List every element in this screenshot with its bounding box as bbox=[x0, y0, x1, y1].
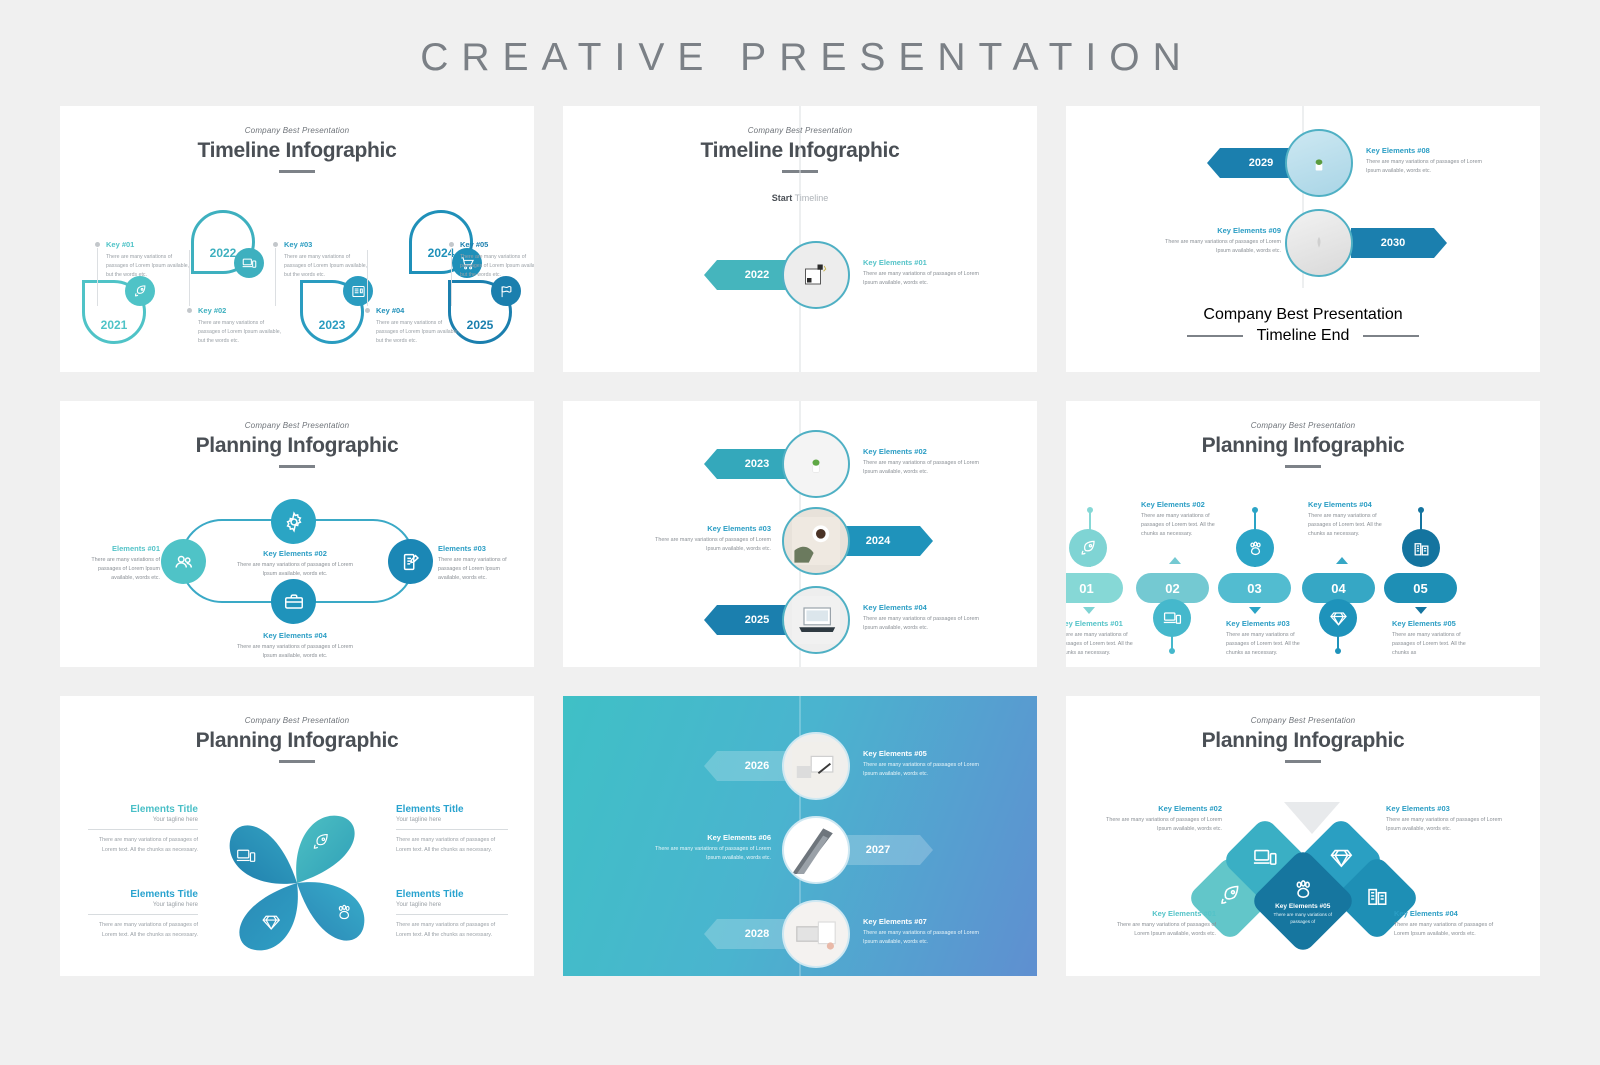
key-column-03[interactable]: Key #03 There are many variations of pas… bbox=[284, 240, 370, 280]
slide-header: Company Best Presentation Planning Infog… bbox=[60, 696, 534, 763]
key-block: Key Elements #08 There are many variatio… bbox=[1366, 146, 1496, 176]
laptop-photo-icon bbox=[792, 596, 840, 644]
key-body: There are many variations of passages of… bbox=[1226, 631, 1314, 658]
key-body: There are many variations of passages of… bbox=[1104, 921, 1216, 939]
divider bbox=[396, 829, 508, 830]
feather-photo-icon bbox=[1311, 230, 1327, 256]
key-label: Key Elements #05 bbox=[863, 749, 988, 758]
devices-icon bbox=[234, 248, 264, 278]
key-block-03: Elements #03 There are many variations o… bbox=[438, 544, 520, 583]
divider bbox=[88, 914, 198, 915]
pinwheel-graphic[interactable] bbox=[208, 794, 386, 972]
gear-icon[interactable] bbox=[271, 499, 316, 544]
key-block-01: Key Elements #01 There are many variatio… bbox=[1104, 909, 1216, 939]
key-vline bbox=[367, 250, 368, 306]
key-body: There are many variations of passages of… bbox=[1392, 631, 1484, 658]
year-label: 2021 bbox=[82, 318, 146, 332]
key-body: There are many variations of passages of… bbox=[863, 761, 988, 779]
slide-timeline-mid[interactable]: 2023 Key Elements #02 There are many var… bbox=[563, 401, 1037, 667]
key-block: Key Elements #03 There are many variatio… bbox=[1226, 619, 1314, 658]
slide-header: Company Best Presentation Planning Infog… bbox=[1066, 401, 1540, 468]
key-body: There are many variations of passages of… bbox=[1151, 238, 1281, 256]
photo-coffee bbox=[782, 507, 850, 575]
key-label: Key Elements #03 bbox=[1226, 619, 1314, 628]
key-body: There are many variations of passages of… bbox=[236, 643, 354, 661]
key-body: There are many variations of passages of… bbox=[284, 253, 370, 280]
step-nub bbox=[1335, 648, 1341, 654]
key-column-05[interactable]: Key #05 There are many variations of pas… bbox=[460, 240, 534, 280]
slide-eyebrow: Company Best Presentation bbox=[60, 421, 534, 430]
key-label: Key Elements #03 bbox=[641, 524, 771, 533]
title-rule bbox=[279, 760, 315, 763]
key-body: There are many variations of passages of bbox=[1265, 911, 1341, 926]
slide-eyebrow: Company Best Presentation bbox=[1066, 421, 1540, 430]
key-label: Key Elements #05 bbox=[1392, 619, 1484, 628]
key-block: Key Elements #01 There are many variatio… bbox=[1066, 619, 1147, 658]
rocket-icon bbox=[125, 276, 155, 306]
tile-content bbox=[1218, 883, 1243, 913]
key-label: Key #02 bbox=[198, 306, 284, 315]
key-label: Key #01 bbox=[106, 240, 192, 249]
slide-timeline-gradient[interactable]: 2026 Key Elements #05 There are many var… bbox=[563, 696, 1037, 976]
key-body: There are many variations of passages of… bbox=[198, 319, 284, 346]
key-body: There are many variations of passages of… bbox=[641, 845, 771, 863]
key-block-04: Key Elements #04 There are many variatio… bbox=[1394, 909, 1506, 939]
key-block-03: Key Elements #03 There are many variatio… bbox=[1386, 804, 1504, 834]
end-title: Timeline End bbox=[1257, 327, 1350, 345]
building-photo-icon bbox=[792, 826, 840, 874]
pen-edit-icon[interactable] bbox=[388, 539, 433, 584]
step-caret-down-icon bbox=[1083, 607, 1095, 614]
slide-eyebrow: Company Best Presentation bbox=[60, 716, 534, 725]
slide-planning-pinwheel[interactable]: Company Best Presentation Planning Infog… bbox=[60, 696, 534, 976]
cactus-photo-icon bbox=[805, 452, 827, 476]
building-icon[interactable] bbox=[1402, 529, 1440, 567]
timeline-spine bbox=[800, 106, 801, 372]
photo-desk bbox=[782, 732, 850, 800]
key-block: Key Elements #04 There are many variatio… bbox=[863, 603, 988, 633]
key-block: Key Elements #05 There are many variatio… bbox=[863, 749, 988, 779]
start-bold: Start bbox=[772, 193, 793, 203]
petal-block-left-bottom: Elements Title Your tagline here There a… bbox=[88, 889, 198, 940]
title-rule bbox=[279, 465, 315, 468]
key-label: Key Elements #01 bbox=[1066, 619, 1147, 628]
photo-feather bbox=[1285, 209, 1353, 277]
timeline-row: 2021 2022 2023 bbox=[60, 202, 534, 362]
page-title: CREATIVE PRESENTATION bbox=[0, 0, 1600, 80]
photo-building bbox=[782, 816, 850, 884]
petal-block-right-top: Elements Title Your tagline here There a… bbox=[396, 804, 508, 855]
petal-block-left-top: Elements Title Your tagline here There a… bbox=[88, 804, 198, 855]
step-caret-down-icon bbox=[1249, 607, 1261, 614]
key-dot bbox=[187, 308, 192, 313]
slide-header: Company Best Presentation Planning Infog… bbox=[60, 401, 534, 468]
slide-title: Planning Infographic bbox=[1066, 434, 1540, 458]
key-body: There are many variations of passages of… bbox=[106, 253, 192, 280]
slide-eyebrow: Company Best Presentation bbox=[60, 126, 534, 135]
slide-grid: Company Best Presentation Timeline Infog… bbox=[0, 106, 1600, 976]
desk-photo-icon bbox=[792, 742, 840, 790]
year-tag[interactable]: 2030 bbox=[1351, 228, 1447, 258]
step-caret-up-icon bbox=[1336, 557, 1348, 564]
element-tagline: Your tagline here bbox=[396, 817, 508, 823]
title-rule bbox=[279, 170, 315, 173]
key-label: Key Elements #08 bbox=[1366, 146, 1496, 155]
key-label: Key Elements #05 bbox=[1265, 903, 1341, 910]
slide-eyebrow: Company Best Presentation bbox=[1066, 716, 1540, 725]
key-body: There are many variations of passages of… bbox=[863, 459, 988, 477]
tile-content: Key Elements #05 There are many variatio… bbox=[1265, 877, 1341, 926]
key-label: Key Elements #04 bbox=[1308, 500, 1400, 509]
key-body: There are many variations of passages of… bbox=[236, 561, 354, 579]
key-block: Key Elements #05 There are many variatio… bbox=[1392, 619, 1484, 658]
year-marker-2022[interactable]: 2022 bbox=[191, 210, 255, 274]
key-body: There are many variations of passages of… bbox=[1366, 158, 1496, 176]
element-tagline: Your tagline here bbox=[396, 902, 508, 908]
element-title: Elements Title bbox=[396, 889, 508, 900]
diamond-icon[interactable] bbox=[1319, 599, 1357, 637]
rocket-icon bbox=[1218, 883, 1243, 908]
key-block-04: Key Elements #04 There are many variatio… bbox=[236, 631, 354, 661]
end-eyebrow: Company Best Presentation bbox=[1066, 306, 1540, 324]
key-vline bbox=[97, 248, 98, 306]
key-label: Key #04 bbox=[376, 306, 462, 315]
element-tagline: Your tagline here bbox=[88, 902, 198, 908]
key-body: There are many variations of passages of… bbox=[376, 319, 462, 346]
key-block: Key Elements #09 There are many variatio… bbox=[1151, 226, 1281, 256]
key-vline bbox=[451, 248, 452, 306]
key-label: Key Elements #06 bbox=[641, 833, 771, 842]
key-block: Key Elements #01 There are many variatio… bbox=[863, 258, 983, 288]
slide-planning-loop[interactable]: Company Best Presentation Planning Infog… bbox=[60, 401, 534, 667]
step-nub bbox=[1169, 648, 1175, 654]
year-marker-2021[interactable]: 2021 bbox=[82, 280, 146, 344]
key-block: Key Elements #07 There are many variatio… bbox=[863, 917, 988, 947]
key-body: There are many variations of passages of… bbox=[641, 536, 771, 554]
year-marker-2023[interactable]: 2023 bbox=[300, 280, 364, 344]
key-column-04[interactable]: Key #04 There are many variations of pas… bbox=[376, 306, 462, 346]
key-body: There are many variations of passages of… bbox=[78, 556, 160, 583]
photo-notebook bbox=[782, 900, 850, 968]
key-body: There are many variations of passages of… bbox=[1141, 512, 1233, 539]
building-icon bbox=[1365, 883, 1390, 908]
element-body: There are many variations of passages of… bbox=[88, 836, 198, 855]
element-body: There are many variations of passages of… bbox=[396, 921, 508, 940]
end-title-row: Timeline End bbox=[1066, 327, 1540, 345]
key-block: Key Elements #03 There are many variatio… bbox=[641, 524, 771, 554]
key-body: There are many variations of passages of… bbox=[460, 253, 534, 280]
key-block: Key Elements #02 There are many variatio… bbox=[1141, 500, 1233, 539]
key-label: Key Elements #01 bbox=[863, 258, 983, 267]
slide-header: Company Best Presentation Planning Infog… bbox=[1066, 696, 1540, 763]
timeline-end-header: Company Best Presentation Timeline End bbox=[1066, 306, 1540, 345]
key-label: Key Elements #02 bbox=[236, 549, 354, 558]
key-label: Key Elements #02 bbox=[1141, 500, 1233, 509]
key-label: Key Elements #04 bbox=[863, 603, 988, 612]
step-caret-up-icon bbox=[1169, 557, 1181, 564]
key-label: Key Elements #09 bbox=[1151, 226, 1281, 235]
key-body: There are many variations of passages of… bbox=[1394, 921, 1506, 939]
key-vline bbox=[189, 250, 190, 306]
key-label: Key Elements #04 bbox=[1394, 909, 1506, 918]
news-icon bbox=[343, 276, 373, 306]
divider bbox=[88, 829, 198, 830]
people-icon[interactable] bbox=[161, 539, 206, 584]
flag-icon bbox=[491, 276, 521, 306]
key-dot bbox=[449, 242, 454, 247]
key-dot bbox=[365, 308, 370, 313]
photo-laptop bbox=[782, 586, 850, 654]
key-body: There are many variations of passages of… bbox=[863, 615, 988, 633]
key-body: There are many variations of passages of… bbox=[438, 556, 520, 583]
key-body: There are many variations of passages of… bbox=[863, 270, 983, 288]
tile-content bbox=[1329, 845, 1354, 875]
key-dot bbox=[273, 242, 278, 247]
slide-title: Timeline Infographic bbox=[60, 139, 534, 163]
key-body: There are many variations of passages of… bbox=[1386, 816, 1504, 834]
key-label: Elements #01 bbox=[78, 544, 160, 553]
tile-content bbox=[1253, 845, 1278, 875]
key-block: Key Elements #04 There are many variatio… bbox=[1308, 500, 1400, 539]
divider bbox=[396, 914, 508, 915]
key-label: Key Elements #03 bbox=[1386, 804, 1504, 813]
photo-cactus bbox=[782, 430, 850, 498]
element-body: There are many variations of passages of… bbox=[396, 836, 508, 855]
key-column-01[interactable]: Key #01 There are many variations of pas… bbox=[106, 240, 192, 280]
slide-title: Planning Infographic bbox=[60, 434, 534, 458]
key-vline bbox=[275, 248, 276, 306]
coffee-photo-icon bbox=[792, 517, 840, 565]
key-block-01: Elements #01 There are many variations o… bbox=[78, 544, 160, 583]
diamond-icon bbox=[1329, 845, 1354, 870]
right-rule bbox=[1363, 335, 1419, 337]
key-label: Key Elements #02 bbox=[1104, 804, 1222, 813]
petal-block-right-bottom: Elements Title Your tagline here There a… bbox=[396, 889, 508, 940]
left-rule bbox=[1187, 335, 1243, 337]
slide-planning-diamonds[interactable]: Company Best Presentation Planning Infog… bbox=[1066, 696, 1540, 976]
key-label: Key Elements #02 bbox=[863, 447, 988, 456]
slide-header: Company Best Presentation Timeline Infog… bbox=[60, 106, 534, 173]
step-pill[interactable]: 05 bbox=[1384, 573, 1457, 603]
element-title: Elements Title bbox=[88, 804, 198, 815]
key-body: There are many variations of passages of… bbox=[863, 929, 988, 947]
devices-icon bbox=[1253, 845, 1278, 870]
tile-content bbox=[1365, 883, 1390, 913]
paw-icon[interactable] bbox=[1236, 529, 1274, 567]
slide-timeline-infographic-1[interactable]: Company Best Presentation Timeline Infog… bbox=[60, 106, 534, 372]
rocket-icon[interactable] bbox=[1069, 529, 1107, 567]
element-title: Elements Title bbox=[88, 889, 198, 900]
photo-placeholder-icon bbox=[801, 260, 831, 290]
key-label: Key Elements #01 bbox=[1104, 909, 1216, 918]
slide-title: Planning Infographic bbox=[1066, 729, 1540, 753]
title-rule bbox=[1285, 760, 1321, 763]
paw-icon bbox=[1291, 877, 1316, 902]
key-dot bbox=[95, 242, 100, 247]
devices-icon[interactable] bbox=[1153, 599, 1191, 637]
notebook-photo-icon bbox=[792, 910, 840, 958]
key-block: Key Elements #06 There are many variatio… bbox=[641, 833, 771, 863]
key-block-02: Key Elements #02 There are many variatio… bbox=[1104, 804, 1222, 834]
slide-timeline-end[interactable]: 2029 Key Elements #08 There are many var… bbox=[1066, 106, 1540, 372]
element-title: Elements Title bbox=[396, 804, 508, 815]
cactus-photo-icon bbox=[1309, 152, 1329, 174]
key-label: Elements #03 bbox=[438, 544, 520, 553]
key-block-02: Key Elements #02 There are many variatio… bbox=[236, 549, 354, 579]
key-label: Key #05 bbox=[460, 240, 534, 249]
title-rule bbox=[1285, 465, 1321, 468]
key-body: There are many variations of passages of… bbox=[1066, 631, 1147, 658]
key-body: There are many variations of passages of… bbox=[1104, 816, 1222, 834]
slide-title: Planning Infographic bbox=[60, 729, 534, 753]
photo-cactus bbox=[1285, 129, 1353, 197]
key-column-02[interactable]: Key #02 There are many variations of pas… bbox=[198, 306, 284, 346]
element-tagline: Your tagline here bbox=[88, 817, 198, 823]
key-body: There are many variations of passages of… bbox=[1308, 512, 1400, 539]
key-block: Key Elements #02 There are many variatio… bbox=[863, 447, 988, 477]
year-label: 2023 bbox=[300, 318, 364, 332]
key-label: Key #03 bbox=[284, 240, 370, 249]
step-pill[interactable]: 03 bbox=[1218, 573, 1291, 603]
key-label: Key Elements #07 bbox=[863, 917, 988, 926]
step-caret-down-icon bbox=[1415, 607, 1427, 614]
slide-planning-steps[interactable]: Company Best Presentation Planning Infog… bbox=[1066, 401, 1540, 667]
slide-timeline-start[interactable]: Company Best Presentation Timeline Infog… bbox=[563, 106, 1037, 372]
briefcase-icon[interactable] bbox=[271, 579, 316, 624]
photo-workspace bbox=[782, 241, 850, 309]
key-label: Key Elements #04 bbox=[236, 631, 354, 640]
step-pill[interactable]: 01 bbox=[1066, 573, 1123, 603]
element-body: There are many variations of passages of… bbox=[88, 921, 198, 940]
